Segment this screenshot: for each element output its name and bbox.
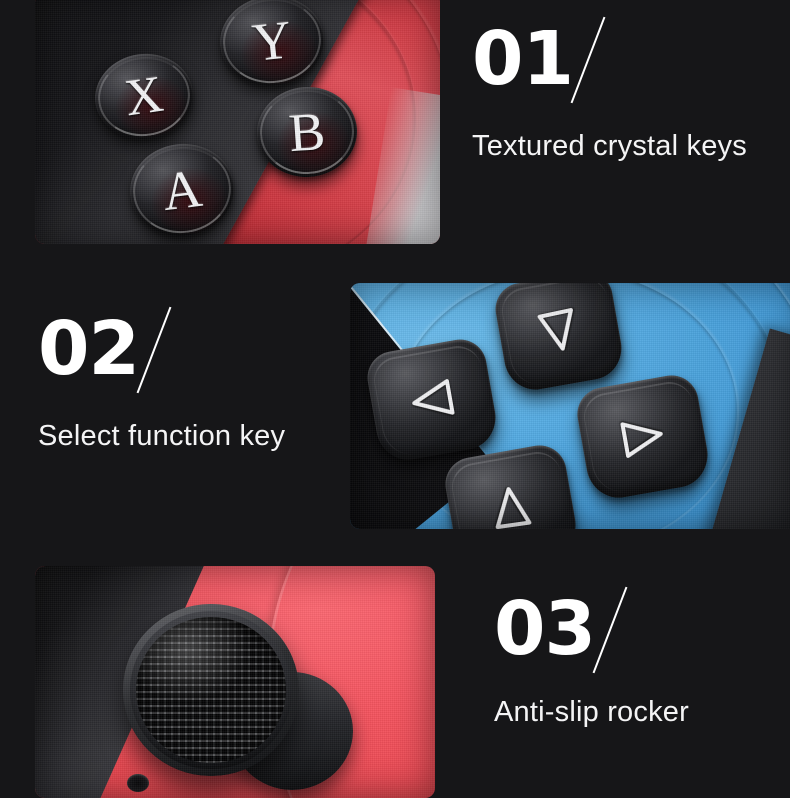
triangle-up-icon bbox=[534, 304, 585, 358]
feature-number-wrap: 03 bbox=[494, 592, 595, 666]
triangle-left-icon bbox=[406, 375, 459, 424]
face-button-y[interactable]: Y bbox=[216, 0, 329, 91]
triangle-right-icon bbox=[617, 412, 670, 461]
diagonal-slash-accent bbox=[593, 587, 628, 674]
controller-photo-blue bbox=[350, 283, 790, 529]
feature-photo-face-buttons: X Y B A bbox=[35, 0, 440, 244]
controller-photo-red: X Y B A bbox=[35, 0, 440, 244]
direction-key-right[interactable] bbox=[573, 371, 713, 502]
shell-port-hole bbox=[127, 774, 149, 792]
face-button-y-label: Y bbox=[249, 8, 294, 74]
feature-caption-text: Anti-slip rocker bbox=[494, 696, 784, 729]
feature-caption-text: Textured crystal keys bbox=[472, 130, 772, 163]
product-feature-board: X Y B A bbox=[0, 0, 790, 790]
diagonal-slash-accent bbox=[137, 307, 172, 394]
feature-photo-direction-keys bbox=[350, 283, 790, 529]
feature-caption-02: 02 Select function key bbox=[38, 312, 338, 453]
face-button-b-label: B bbox=[287, 100, 327, 164]
face-button-x-label: X bbox=[121, 65, 166, 129]
feature-number: 01 bbox=[472, 22, 573, 96]
feature-photo-thumbstick bbox=[35, 566, 435, 798]
diagonal-slash-accent bbox=[571, 17, 606, 104]
feature-number-wrap: 01 bbox=[472, 22, 573, 96]
feature-caption-text: Select function key bbox=[38, 420, 338, 453]
feature-caption-03: 03 Anti-slip rocker bbox=[494, 592, 784, 729]
direction-key-left[interactable] bbox=[363, 335, 500, 464]
feature-number-wrap: 02 bbox=[38, 312, 139, 386]
controller-photo-rocker bbox=[35, 566, 435, 798]
anti-slip-mesh-texture bbox=[136, 617, 286, 763]
thumbstick-cap[interactable] bbox=[123, 604, 299, 776]
feature-number: 03 bbox=[494, 592, 595, 666]
triangle-down-icon bbox=[487, 481, 535, 529]
feature-number: 02 bbox=[38, 312, 139, 386]
face-button-a-label: A bbox=[159, 157, 205, 223]
feature-caption-01: 01 Textured crystal keys bbox=[472, 22, 772, 163]
